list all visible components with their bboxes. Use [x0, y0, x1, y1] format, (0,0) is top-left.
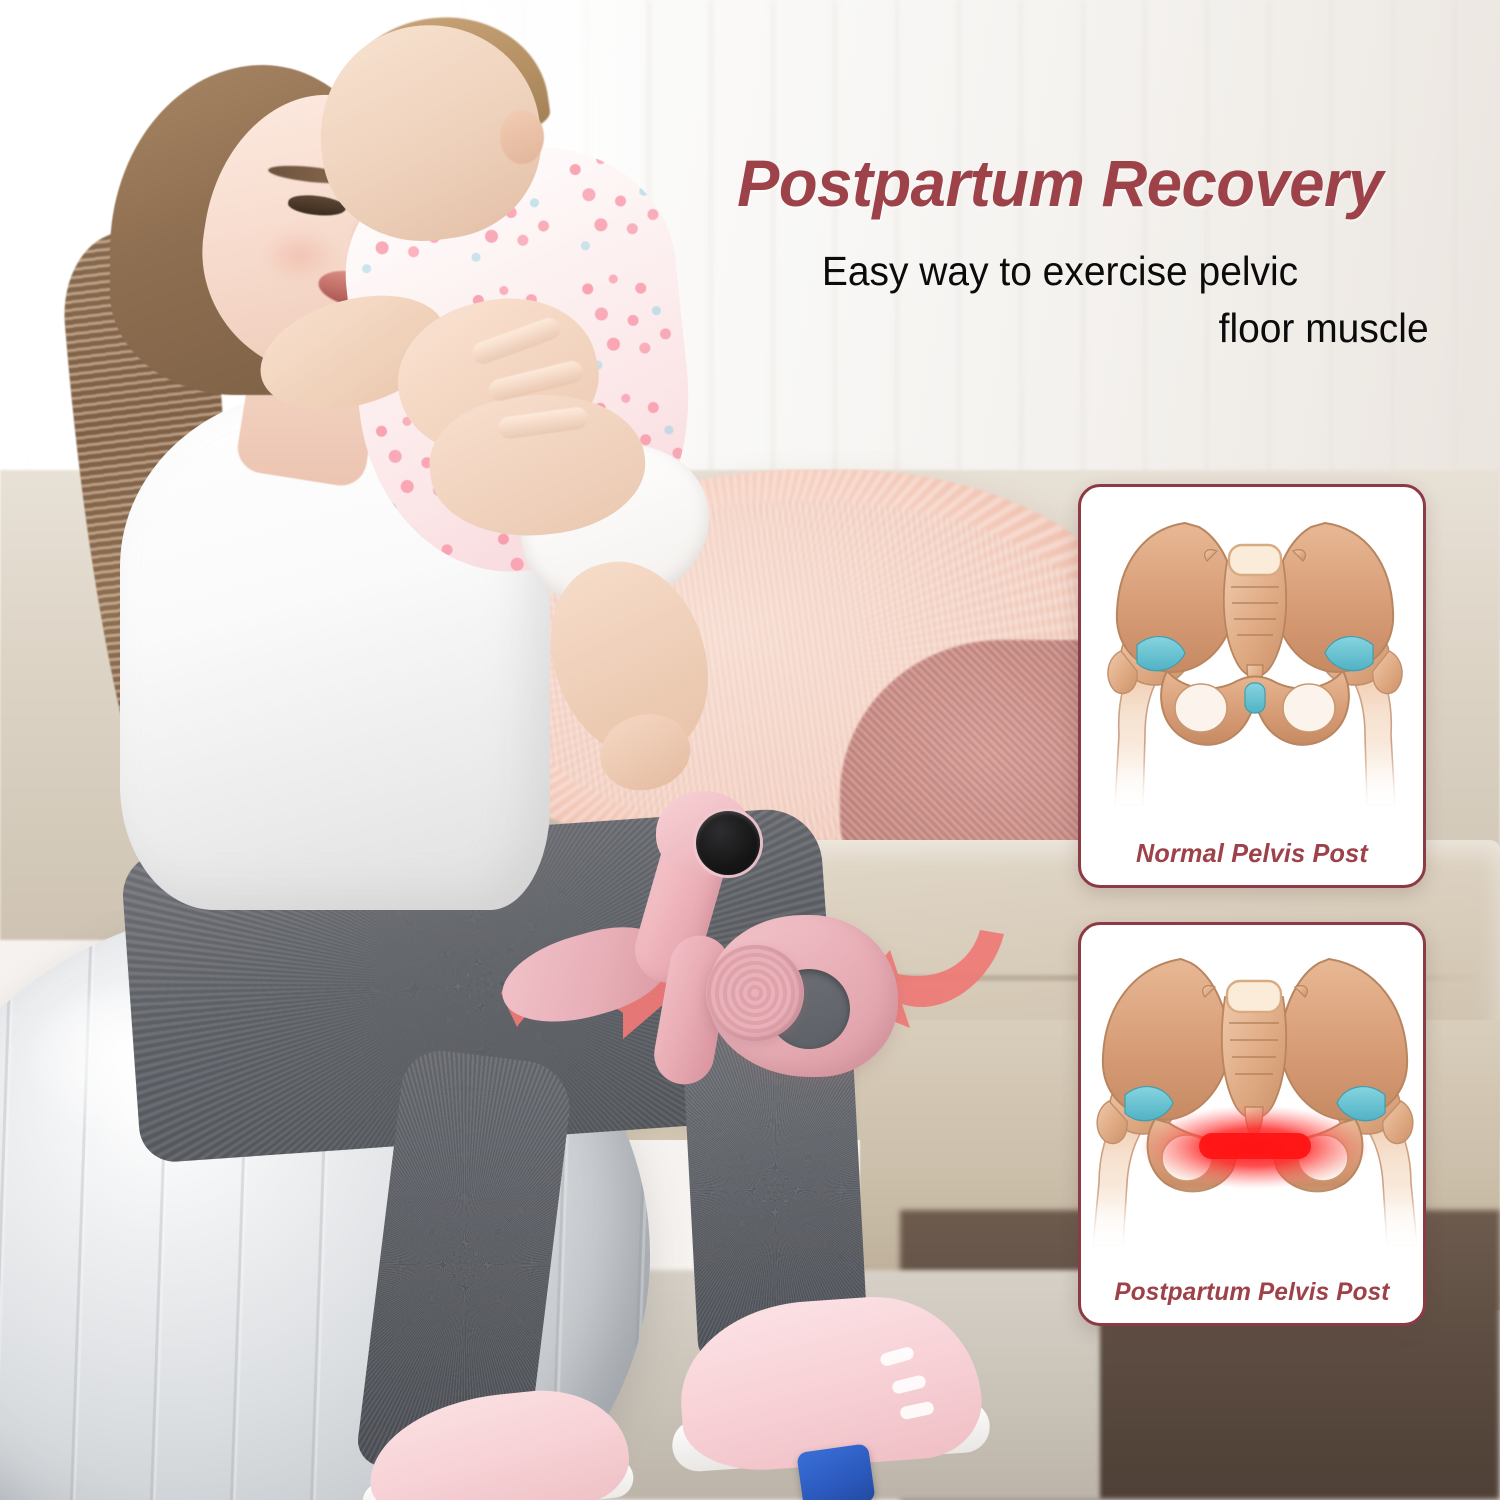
card-label-postpartum: Postpartum Pelvis Post [1086, 1278, 1418, 1307]
device-hub-marking [696, 811, 760, 875]
pelvis-diagram-postpartum [1081, 933, 1423, 1251]
card-label-normal: Normal Pelvis Post [1086, 838, 1418, 869]
pelvis-diagram-normal [1081, 495, 1423, 813]
card-normal-pelvis[interactable]: Normal Pelvis Post [1078, 484, 1426, 888]
pelvic-floor-exerciser-device [600, 785, 950, 1095]
product-banner: Postpartum Recovery Easy way to exercise… [0, 0, 1500, 1500]
card-postpartum-pelvis[interactable]: Postpartum Pelvis Post [1078, 922, 1426, 1326]
blue-object [796, 1443, 875, 1500]
device-hub-dial [696, 811, 760, 875]
baby-ear [500, 110, 544, 164]
